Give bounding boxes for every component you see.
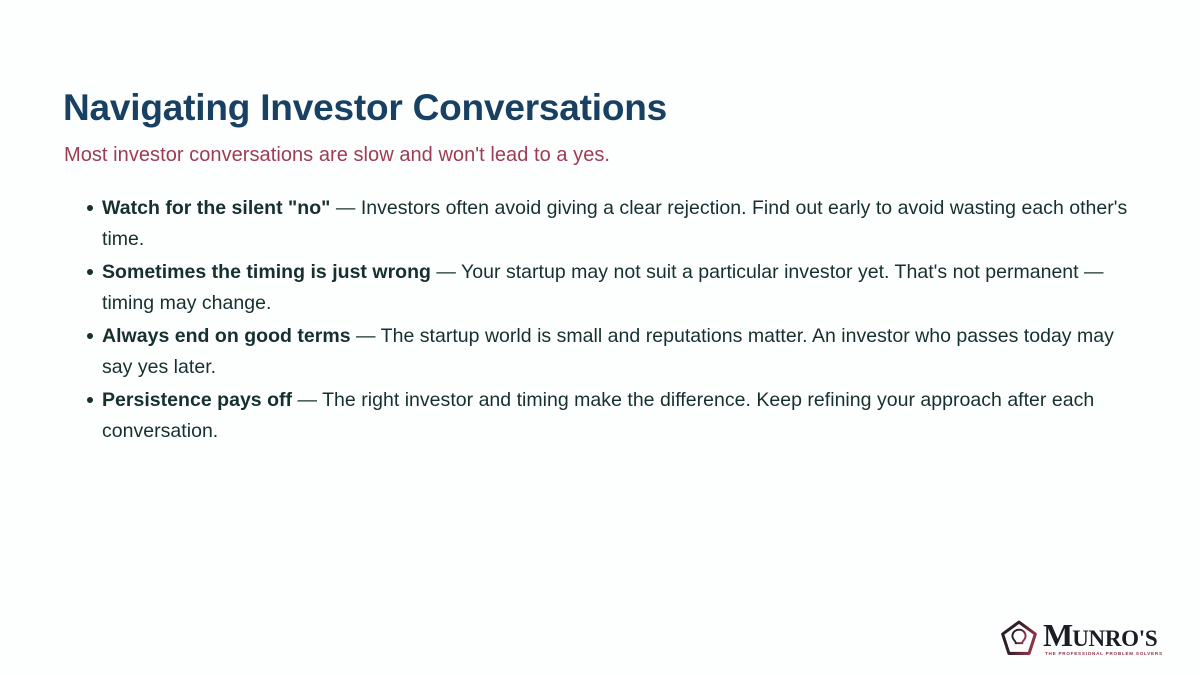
list-item-lead: Persistence pays off xyxy=(102,389,292,411)
brand-logo: MUNRO'S THE PROFESSIONAL PROBLEM SOLVERS xyxy=(1000,616,1152,662)
bullet-dot-icon xyxy=(87,333,93,339)
logo-wordmark: MUNRO'S THE PROFESSIONAL PROBLEM SOLVERS xyxy=(1043,622,1163,656)
bullet-dot-icon xyxy=(87,269,93,275)
logo-initial: M xyxy=(1043,622,1072,649)
logo-tagline: THE PROFESSIONAL PROBLEM SOLVERS xyxy=(1045,652,1163,657)
bullet-dot-icon xyxy=(87,205,93,211)
list-item-lead: Sometimes the timing is just wrong xyxy=(102,261,431,283)
page-title: Navigating Investor Conversations xyxy=(63,87,667,130)
pentagon-lightbulb-icon xyxy=(1000,620,1038,658)
page-subtitle: Most investor conversations are slow and… xyxy=(64,142,610,168)
bullet-dot-icon xyxy=(87,397,93,403)
list-item: Persistence pays off — The right investo… xyxy=(64,385,1149,447)
list-item-lead: Watch for the silent "no" xyxy=(102,197,330,219)
list-item-lead: Always end on good terms xyxy=(102,325,351,347)
slide-canvas: Navigating Investor Conversations Most i… xyxy=(0,0,1200,675)
list-item: Always end on good terms — The startup w… xyxy=(64,321,1149,383)
logo-name: UNRO'S xyxy=(1072,629,1157,650)
list-item: Sometimes the timing is just wrong — You… xyxy=(64,257,1149,319)
list-item: Watch for the silent "no" — Investors of… xyxy=(64,193,1149,255)
logo-word: MUNRO'S xyxy=(1043,622,1163,650)
bullet-list: Watch for the silent "no" — Investors of… xyxy=(64,193,1149,449)
